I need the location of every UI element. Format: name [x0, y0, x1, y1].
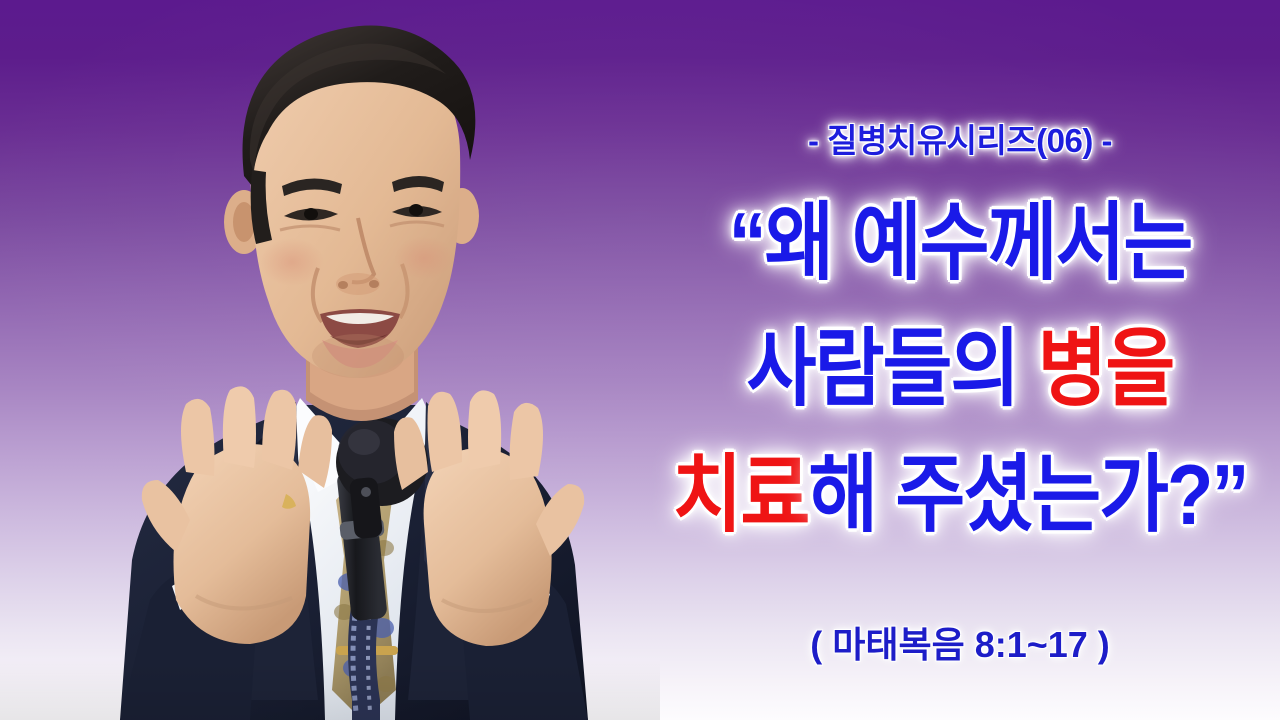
- headline-line-2: 사람들의 병을: [630, 324, 1280, 416]
- speaker-head: [224, 26, 479, 378]
- headline-line-2-text-b: 병을: [1037, 322, 1173, 417]
- headline-line-2-text-a: 사람들의: [747, 322, 1038, 417]
- text-overlay: - 질병치유시리즈(06) - “왜 예수께서는 사람들의 병을 치료해 주셨는…: [640, 0, 1280, 720]
- headline-line-1: “왜 예수께서는: [630, 198, 1280, 290]
- headline-line-3: 치료해 주셨는가?”: [630, 450, 1280, 542]
- thumbnail-canvas: - 질병치유시리즈(06) - “왜 예수께서는 사람들의 병을 치료해 주셨는…: [0, 0, 1280, 720]
- verse-reference: ( 마태복음 8:1~17 ): [640, 616, 1280, 668]
- headline: “왜 예수께서는 사람들의 병을 치료해 주셨는가?”: [630, 198, 1280, 532]
- headline-line-1-text: “왜 예수께서는: [729, 196, 1192, 291]
- series-label: - 질병치유시리즈(06) -: [640, 114, 1280, 162]
- speaker-photo: [0, 0, 660, 720]
- headline-line-3-text-b: 해 주셨는가?”: [808, 448, 1247, 543]
- headline-line-3-text-a: 치료: [673, 448, 809, 543]
